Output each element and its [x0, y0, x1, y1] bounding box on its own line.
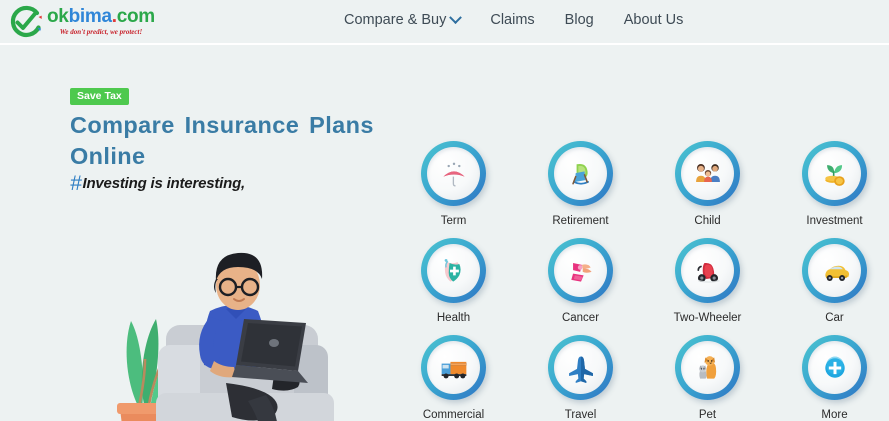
category-investment[interactable]: Investment	[771, 141, 889, 238]
category-ring	[548, 238, 613, 303]
category-ring	[675, 238, 740, 303]
category-travel[interactable]: Travel	[517, 335, 644, 421]
insurance-category-grid: Term Retirement	[390, 141, 870, 421]
hero-text-block: Save Tax Compare Insurance Plans Online …	[70, 86, 380, 192]
category-pet[interactable]: Pet	[644, 335, 771, 421]
rocking-chair-money-icon	[554, 147, 607, 200]
logo-com-text: com	[117, 6, 155, 27]
umbrella-icon	[427, 147, 480, 200]
nav-item-compare-buy[interactable]: Compare & Buy	[344, 12, 460, 28]
shield-medical-cross-icon	[427, 244, 480, 297]
logo-ok-text: ok	[47, 6, 69, 27]
category-ring	[548, 141, 613, 206]
green-circle-check-e-icon	[6, 3, 44, 41]
hero-subtitle: # Investing is interesting,	[70, 175, 380, 192]
category-ring	[675, 141, 740, 206]
category-label: Health	[437, 312, 470, 324]
family-icon	[681, 147, 734, 200]
category-label: Two-Wheeler	[674, 312, 742, 324]
car-icon	[808, 244, 861, 297]
hero-subtitle-text: Investing is interesting,	[82, 175, 245, 192]
nav-item-blog[interactable]: Blog	[565, 12, 594, 28]
category-label: Investment	[806, 215, 862, 227]
pink-ribbon-hand-icon	[554, 244, 607, 297]
scooter-icon	[681, 244, 734, 297]
category-label: Pet	[699, 409, 716, 421]
category-more[interactable]: More	[771, 335, 889, 421]
hashtag-icon: #	[70, 176, 81, 192]
category-ring	[802, 141, 867, 206]
category-label: Retirement	[552, 215, 608, 227]
category-cancer[interactable]: Cancer	[517, 238, 644, 335]
logo-wordmark: okbima.com We don't predict, we protect!	[47, 3, 155, 41]
category-health[interactable]: Health	[390, 238, 517, 335]
save-tax-badge: Save Tax	[70, 88, 129, 105]
category-ring	[421, 335, 486, 400]
category-label: Travel	[565, 409, 597, 421]
site-logo[interactable]: okbima.com We don't predict, we protect!	[6, 2, 155, 42]
category-ring	[675, 335, 740, 400]
category-commercial[interactable]: Commercial	[390, 335, 517, 421]
category-ring	[421, 141, 486, 206]
nav-item-claims[interactable]: Claims	[490, 12, 534, 28]
category-ring	[421, 238, 486, 303]
category-label: Cancer	[562, 312, 599, 324]
page-title: Compare Insurance Plans Online	[70, 110, 380, 172]
site-header: okbima.com We don't predict, we protect!…	[0, 0, 889, 45]
main-navigation: Compare & Buy Claims Blog About Us	[344, 12, 683, 28]
dog-cat-icon	[681, 341, 734, 394]
category-label: Child	[694, 215, 720, 227]
nav-label-compare-buy: Compare & Buy	[344, 12, 446, 28]
hero-section: Save Tax Compare Insurance Plans Online …	[0, 45, 889, 421]
chevron-down-icon	[449, 11, 462, 24]
category-car[interactable]: Car	[771, 238, 889, 335]
category-ring	[548, 335, 613, 400]
truck-icon	[427, 341, 480, 394]
category-two-wheeler[interactable]: Two-Wheeler	[644, 238, 771, 335]
category-label: More	[821, 409, 847, 421]
category-label: Car	[825, 312, 844, 324]
logo-bima-text: bima	[69, 6, 112, 27]
category-label: Commercial	[423, 409, 484, 421]
category-label: Term	[441, 215, 467, 227]
category-retirement[interactable]: Retirement	[517, 141, 644, 238]
plus-circle-icon	[808, 341, 861, 394]
category-term[interactable]: Term	[390, 141, 517, 238]
category-ring	[802, 238, 867, 303]
nav-item-about-us[interactable]: About Us	[624, 12, 684, 28]
man-with-laptop-in-armchair-illustration	[98, 233, 348, 421]
plant-coins-icon	[808, 147, 861, 200]
category-ring	[802, 335, 867, 400]
logo-tagline: We don't predict, we protect!	[47, 28, 155, 37]
airplane-icon	[554, 341, 607, 394]
category-child[interactable]: Child	[644, 141, 771, 238]
